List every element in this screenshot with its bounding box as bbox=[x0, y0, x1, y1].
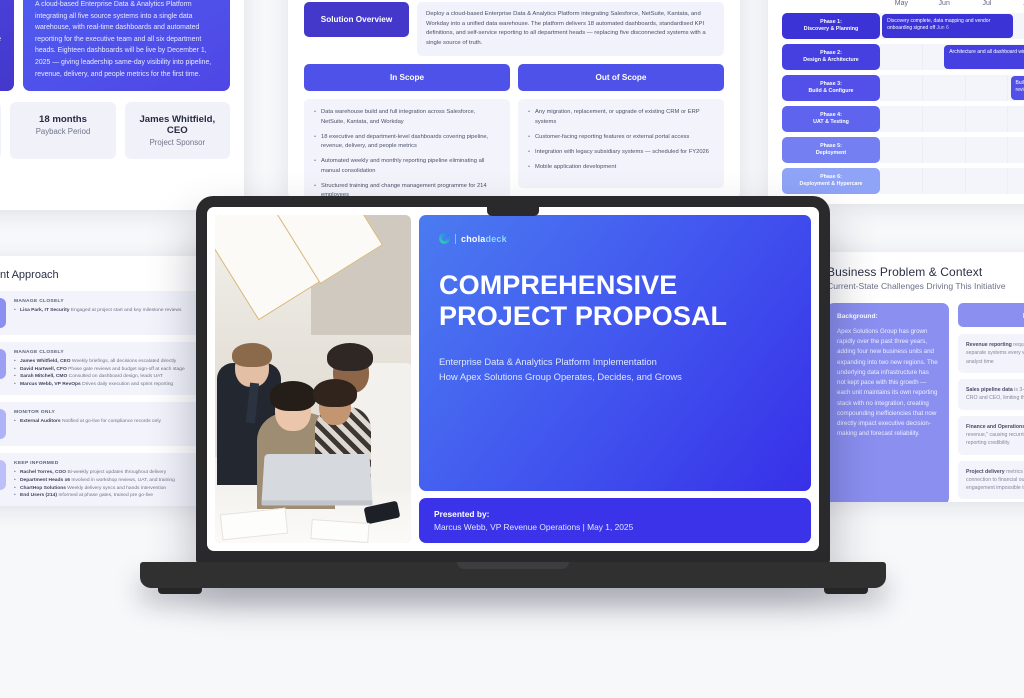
background-slide-business-problem[interactable]: Business Problem & Context Current-State… bbox=[812, 252, 1024, 502]
pain-point-lead: Project delivery bbox=[966, 469, 1005, 475]
gantt-milestone-date: Jun 6 bbox=[937, 25, 949, 31]
gantt-row: Phase 5: Deployment bbox=[782, 137, 1024, 163]
choladeck-logo-icon bbox=[439, 233, 450, 244]
gantt-track: Discovery complete, data mapping and ven… bbox=[880, 13, 1024, 39]
stat-value: 18 months bbox=[16, 114, 109, 125]
gantt-track: Architecture and all dashboard wireframe… bbox=[880, 44, 1024, 70]
problem-card: The Problem: Reporting is fragmented acr… bbox=[0, 0, 14, 91]
scope-columns: Data warehouse build and full integratio… bbox=[304, 99, 724, 198]
hero-subtitle-line-1: Enterprise Data & Analytics Platform Imp… bbox=[439, 354, 791, 369]
gantt-month-header: May Jun Jul Aug Sep bbox=[782, 0, 1024, 7]
solution-cards-row: The Problem: Reporting is fragmented acr… bbox=[0, 0, 230, 91]
gantt-row: Phase 3: Build & Configure Build sprint … bbox=[782, 75, 1024, 101]
pain-point-item: Sales pipeline data is 3–4 days stale by… bbox=[958, 379, 1024, 410]
group-category: MANAGE CLOSELY bbox=[14, 299, 197, 304]
stakeholder-name: End Users (214) bbox=[20, 493, 57, 498]
bell-icon bbox=[0, 460, 6, 490]
laptop-foot-left bbox=[158, 588, 202, 594]
stakeholder-name: James Whitfield, CEO bbox=[20, 359, 71, 364]
pain-point-item: Project delivery metrics are tracked in … bbox=[958, 461, 1024, 500]
phase-name: Design & Architecture bbox=[803, 57, 858, 64]
stakeholder-name: David Hartwell, CFO bbox=[20, 367, 67, 372]
stakeholder-desc: Phase gate reviews and budget sign-off a… bbox=[68, 367, 185, 372]
scope-pills-row: In Scope Out of Scope bbox=[304, 64, 724, 91]
handshake-icon bbox=[0, 298, 6, 328]
phase-name: UAT & Testing bbox=[813, 119, 849, 126]
stakeholder-desc: Involved in workshop reviews, UAT, and t… bbox=[71, 478, 174, 483]
stakeholder-name: Lisa Park, IT Security bbox=[20, 308, 69, 313]
solution-overview-row: Solution Overview Deploy a cloud-based E… bbox=[304, 2, 724, 56]
brand-logo[interactable]: choladeck bbox=[439, 233, 791, 244]
stakeholder-entry: Sarah Mitchell, CMO Consulted on dashboa… bbox=[14, 373, 197, 381]
stakeholder-name: Rachel Torres, COO bbox=[20, 470, 66, 475]
logo-word-secondary: deck bbox=[486, 234, 507, 244]
stakeholder-group-list: MANAGE CLOSELY Lisa Park, IT Security En… bbox=[0, 291, 205, 506]
phase-name: Deployment bbox=[816, 150, 846, 157]
gantt-bar[interactable]: Build sprint 1 complete, 6 dashboards de… bbox=[1011, 76, 1024, 100]
gantt-phase-label: Phase 4: UAT & Testing bbox=[782, 106, 880, 132]
eye-icon bbox=[0, 409, 6, 439]
stakeholder-entry: Lisa Park, IT Security Engaged at projec… bbox=[14, 307, 197, 315]
logo-word-primary: chola bbox=[461, 234, 486, 244]
in-scope-column: Data warehouse build and full integratio… bbox=[304, 99, 510, 198]
solution-overview-text: Deploy a cloud-based Enterprise Data & A… bbox=[417, 2, 724, 56]
stakeholder-entry: Marcus Webb, VP RevOps Drives daily exec… bbox=[14, 381, 197, 389]
list-item[interactable]: MONITOR ONLY External Auditors Notified … bbox=[0, 402, 205, 446]
stakeholder-name: ChartHop Solutions bbox=[20, 486, 66, 491]
page-title: COMPREHENSIVE PROJECT PROPOSAL bbox=[439, 270, 791, 332]
stakeholders-body: Keep Satisfied / Manage Closely Monitor … bbox=[0, 291, 205, 506]
solution-overview-pill: Solution Overview bbox=[304, 2, 409, 37]
out-of-scope-panel: Any migration, replacement, or upgrade o… bbox=[518, 99, 724, 187]
solution-card-body: A cloud-based Enterprise Data & Analytic… bbox=[35, 0, 218, 80]
phase-name: Build & Configure bbox=[808, 88, 853, 95]
list-item: Automated weekly and monthly reporting p… bbox=[314, 157, 500, 176]
gantt-row: Phase 6: Deployment & Hypercare bbox=[782, 168, 1024, 194]
list-item: Data warehouse build and full integratio… bbox=[314, 108, 500, 127]
gantt-track: Build sprint 1 complete, 6 dashboards de… bbox=[880, 75, 1024, 101]
gantt-row: Phase 2: Design & Architecture Architect… bbox=[782, 44, 1024, 70]
stakeholder-entry: External Auditors Notified at go-live fo… bbox=[14, 418, 197, 426]
presented-by-label: Presented by: bbox=[434, 509, 796, 519]
background-slide-scope[interactable]: What We Are Doing and What We Are Not So… bbox=[288, 0, 740, 198]
pain-point-item: Revenue reporting requires manual consol… bbox=[958, 334, 1024, 373]
stakeholder-desc: Engaged at project start and key milesto… bbox=[71, 308, 182, 313]
presenter-name: Marcus Webb, VP Revenue Operations | May… bbox=[434, 522, 796, 532]
list-item: Integration with legacy subsidiary syste… bbox=[528, 148, 714, 157]
stakeholder-entry: Rachel Torres, COO Bi-weekly project upd… bbox=[14, 469, 197, 477]
pain-points-column: Pain Points Revenue reporting requires m… bbox=[958, 303, 1024, 502]
stakeholder-name: External Auditors bbox=[20, 419, 61, 424]
group-category: MONITOR ONLY bbox=[14, 410, 197, 415]
stakeholder-entry: Department Heads x6 Involved in workshop… bbox=[14, 477, 197, 485]
problem-body: Background: Apex Solutions Group has gro… bbox=[827, 303, 1024, 502]
list-item: Any migration, replacement, or upgrade o… bbox=[528, 108, 714, 127]
phase-number: Phase 2: bbox=[820, 50, 842, 57]
presenter-bar: Presented by: Marcus Webb, VP Revenue Op… bbox=[419, 498, 811, 543]
gantt-month: Aug bbox=[1008, 0, 1024, 7]
gantt-track bbox=[880, 168, 1024, 194]
gantt-chart: May Jun Jul Aug Sep Phase 1: Discovery &… bbox=[782, 0, 1024, 194]
laptop-lid: choladeck COMPREHENSIVE PROJECT PROPOSAL… bbox=[196, 196, 830, 564]
gantt-month: Jun bbox=[923, 0, 966, 7]
gantt-track: UAT sign-off bbox=[880, 106, 1024, 132]
problem-slide-subtitle: Current-State Challenges Driving This In… bbox=[827, 281, 1024, 291]
gantt-row: Phase 1: Discovery & Planning Discovery … bbox=[782, 13, 1024, 39]
stat-card: James Whitfield, CEO Project Sponsor bbox=[125, 102, 230, 159]
background-card-body: Apex Solutions Group has grown rapidly o… bbox=[837, 327, 939, 440]
gantt-milestone: Build sprint 1 complete, 6 dashboards de… bbox=[1016, 80, 1024, 93]
gantt-phase-label: Phase 2: Design & Architecture bbox=[782, 44, 880, 70]
stakeholder-desc: Weekly delivery syncs and hands interven… bbox=[67, 486, 166, 491]
stat-card: 18 months Payback Period bbox=[10, 102, 115, 159]
group-category: MANAGE CLOSELY bbox=[14, 350, 197, 355]
stat-value: James Whitfield, CEO bbox=[131, 114, 224, 136]
stakeholder-entry: ChartHop Solutions Weekly delivery syncs… bbox=[14, 485, 197, 493]
laptop-screen[interactable]: choladeck COMPREHENSIVE PROJECT PROPOSAL… bbox=[207, 207, 819, 551]
phase-number: Phase 6: bbox=[820, 174, 842, 181]
phase-number: Phase 1: bbox=[820, 19, 842, 26]
problem-slide-title: Business Problem & Context bbox=[827, 265, 1024, 279]
gantt-track bbox=[880, 137, 1024, 163]
hero-subtitle: Enterprise Data & Analytics Platform Imp… bbox=[439, 354, 791, 384]
stakeholder-entry: End Users (214) Informed at phase gates,… bbox=[14, 492, 197, 500]
laptop-foot-right bbox=[824, 588, 868, 594]
title-slide-photo bbox=[215, 215, 411, 543]
list-item: Customer-facing reporting features or ex… bbox=[528, 133, 714, 142]
stakeholder-entry: James Whitfield, CEO Weekly briefings, a… bbox=[14, 358, 197, 366]
pain-point-item: Finance and Operations use different def… bbox=[958, 416, 1024, 455]
logo-wordmark: choladeck bbox=[461, 234, 507, 244]
screenshot-canvas: The Problem: Reporting is fragmented acr… bbox=[0, 0, 1024, 698]
list-item[interactable]: MANAGE CLOSELY Lisa Park, IT Security En… bbox=[0, 291, 205, 335]
out-of-scope-pill: Out of Scope bbox=[518, 64, 724, 91]
out-of-scope-column: Any migration, replacement, or upgrade o… bbox=[518, 99, 724, 198]
pain-point-lead: Sales pipeline data bbox=[966, 387, 1013, 393]
gantt-month: May bbox=[880, 0, 923, 7]
background-slide-stakeholders[interactable]: Stakeholder Engagement Approach Keep Sat… bbox=[0, 256, 218, 506]
logo-divider bbox=[455, 234, 456, 244]
background-card-heading: Background: bbox=[837, 313, 939, 320]
phase-name: Deployment & Hypercare bbox=[800, 181, 863, 188]
gantt-bar[interactable]: Discovery complete, data mapping and ven… bbox=[882, 14, 1013, 38]
phase-number: Phase 3: bbox=[820, 81, 842, 88]
title-slide-content: choladeck COMPREHENSIVE PROJECT PROPOSAL… bbox=[419, 215, 811, 543]
list-item[interactable]: KEEP INFORMED Rachel Torres, COO Bi-week… bbox=[0, 453, 205, 506]
phase-number: Phase 5: bbox=[820, 143, 842, 150]
problem-card-body: Reporting is fragmented across five disc… bbox=[0, 0, 2, 69]
pain-point-lead: Finance and Operations bbox=[966, 424, 1024, 430]
laptop-mockup: choladeck COMPREHENSIVE PROJECT PROPOSAL… bbox=[196, 196, 830, 614]
stakeholder-name: Department Heads x6 bbox=[20, 478, 70, 483]
laptop-notch bbox=[487, 207, 539, 216]
solution-card: The Solution: A cloud-based Enterprise D… bbox=[23, 0, 230, 91]
background-slide-solution[interactable]: The Problem: Reporting is fragmented acr… bbox=[0, 0, 244, 210]
stat-label: Project Sponsor bbox=[131, 138, 224, 147]
gantt-phase-label: Phase 3: Build & Configure bbox=[782, 75, 880, 101]
stakeholder-desc: Notified at go-live for compliance recor… bbox=[62, 419, 161, 424]
stakeholder-desc: Weekly briefings, all decisions escalate… bbox=[72, 359, 176, 364]
stakeholder-desc: Informed at phase gates, trained pre go-… bbox=[58, 493, 153, 498]
stakeholder-name: Marcus Webb, VP RevOps bbox=[20, 382, 81, 387]
list-item: Mobile application development bbox=[528, 163, 714, 172]
hero-subtitle-line-2: How Apex Solutions Group Operates, Decid… bbox=[439, 369, 791, 384]
group-category: KEEP INFORMED bbox=[14, 461, 197, 466]
stakeholder-entry: David Hartwell, CFO Phase gate reviews a… bbox=[14, 366, 197, 374]
stakeholder-desc: Bi-weekly project updates throughout del… bbox=[67, 470, 166, 475]
in-scope-pill: In Scope bbox=[304, 64, 510, 91]
stakeholder-desc: Consulted on dashboard design, leads UAT bbox=[69, 374, 163, 379]
gantt-phase-label: Phase 5: Deployment bbox=[782, 137, 880, 163]
pain-points-header: Pain Points bbox=[958, 303, 1024, 327]
in-scope-panel: Data warehouse build and full integratio… bbox=[304, 99, 510, 198]
gantt-row: Phase 4: UAT & Testing UAT sign-off bbox=[782, 106, 1024, 132]
shield-icon bbox=[0, 349, 6, 379]
stakeholder-name: Sarah Mitchell, CMO bbox=[20, 374, 67, 379]
background-slide-schedule[interactable]: Phase-by-Phase Delivery Schedule May Jun… bbox=[768, 0, 1024, 204]
gantt-bar[interactable]: Architecture and all dashboard wireframe… bbox=[944, 45, 1024, 69]
title-slide-hero: choladeck COMPREHENSIVE PROJECT PROPOSAL… bbox=[419, 215, 811, 491]
gantt-phase-label: Phase 1: Discovery & Planning bbox=[782, 13, 880, 39]
stat-label: Payback Period bbox=[16, 127, 109, 136]
background-card: Background: Apex Solutions Group has gro… bbox=[827, 303, 949, 502]
stat-card: $1.4M Total Investment bbox=[0, 102, 1, 159]
gantt-month: Jul bbox=[966, 0, 1009, 7]
gantt-phase-label: Phase 6: Deployment & Hypercare bbox=[782, 168, 880, 194]
phase-name: Discovery & Planning bbox=[804, 26, 858, 33]
pain-point-lead: Revenue reporting bbox=[966, 342, 1012, 348]
phase-number: Phase 4: bbox=[820, 112, 842, 119]
list-item: 18 executive and department-level dashbo… bbox=[314, 133, 500, 152]
stakeholders-slide-title: Stakeholder Engagement Approach bbox=[0, 269, 205, 281]
laptop-base bbox=[140, 562, 886, 588]
list-item[interactable]: MANAGE CLOSELY James Whitfield, CEO Week… bbox=[0, 342, 205, 395]
solution-stats-row: $1.4M Total Investment 18 months Payback… bbox=[0, 102, 230, 159]
gantt-milestone: Architecture and all dashboard wireframe… bbox=[949, 49, 1024, 55]
stakeholder-desc: Drives daily execution and sprint report… bbox=[82, 382, 173, 387]
